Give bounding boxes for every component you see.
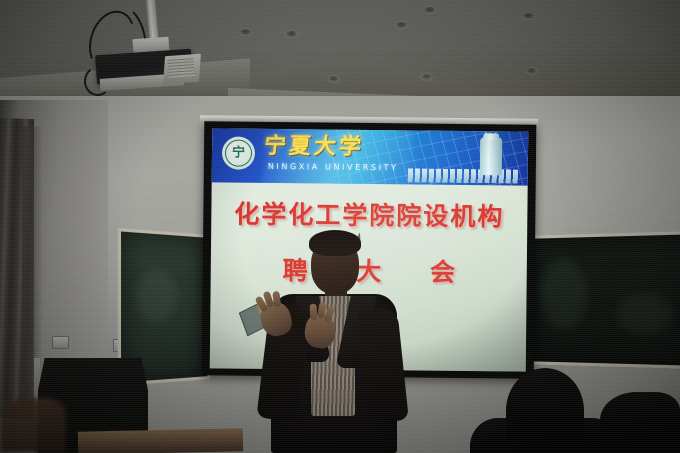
ceiling-downlight-icon [526, 68, 537, 74]
audience-member-right-head [600, 392, 680, 453]
campus-tower-cap [483, 133, 499, 140]
ceiling-downlight-icon [424, 7, 435, 13]
campus-tower-graphic [480, 137, 502, 175]
campus-skyline-graphic [408, 168, 520, 183]
ceiling-downlight-icon [523, 13, 534, 19]
university-seal-logo: 宁 [222, 136, 255, 169]
right-blackboard [520, 231, 680, 369]
lecture-hall-photo: 宁 宁夏大学 NINGXIA UNIVERSITY 化学化工学院院设机构 聘 大… [0, 0, 680, 453]
speaker-person [255, 222, 415, 453]
ceiling-downlight-icon [396, 22, 407, 28]
desk-surface [78, 428, 243, 453]
foreground-blur-left [0, 398, 66, 453]
seal-glyph: 宁 [225, 139, 252, 166]
wall-outlet [52, 336, 69, 349]
ceiling-downlight-icon [240, 29, 251, 35]
university-name-cn: 宁夏大学 [263, 135, 365, 158]
audience-member-front-head [506, 368, 584, 453]
ceiling-downlight-icon [328, 76, 339, 82]
ceiling-downlight-icon [421, 74, 432, 80]
university-name-en: NINGXIA UNIVERSITY [268, 162, 399, 172]
ceiling-downlight-icon [286, 31, 297, 37]
projector-vent-icon [167, 58, 194, 78]
speaker-hair [309, 230, 361, 256]
slide-banner: 宁 宁夏大学 NINGXIA UNIVERSITY [212, 128, 529, 185]
